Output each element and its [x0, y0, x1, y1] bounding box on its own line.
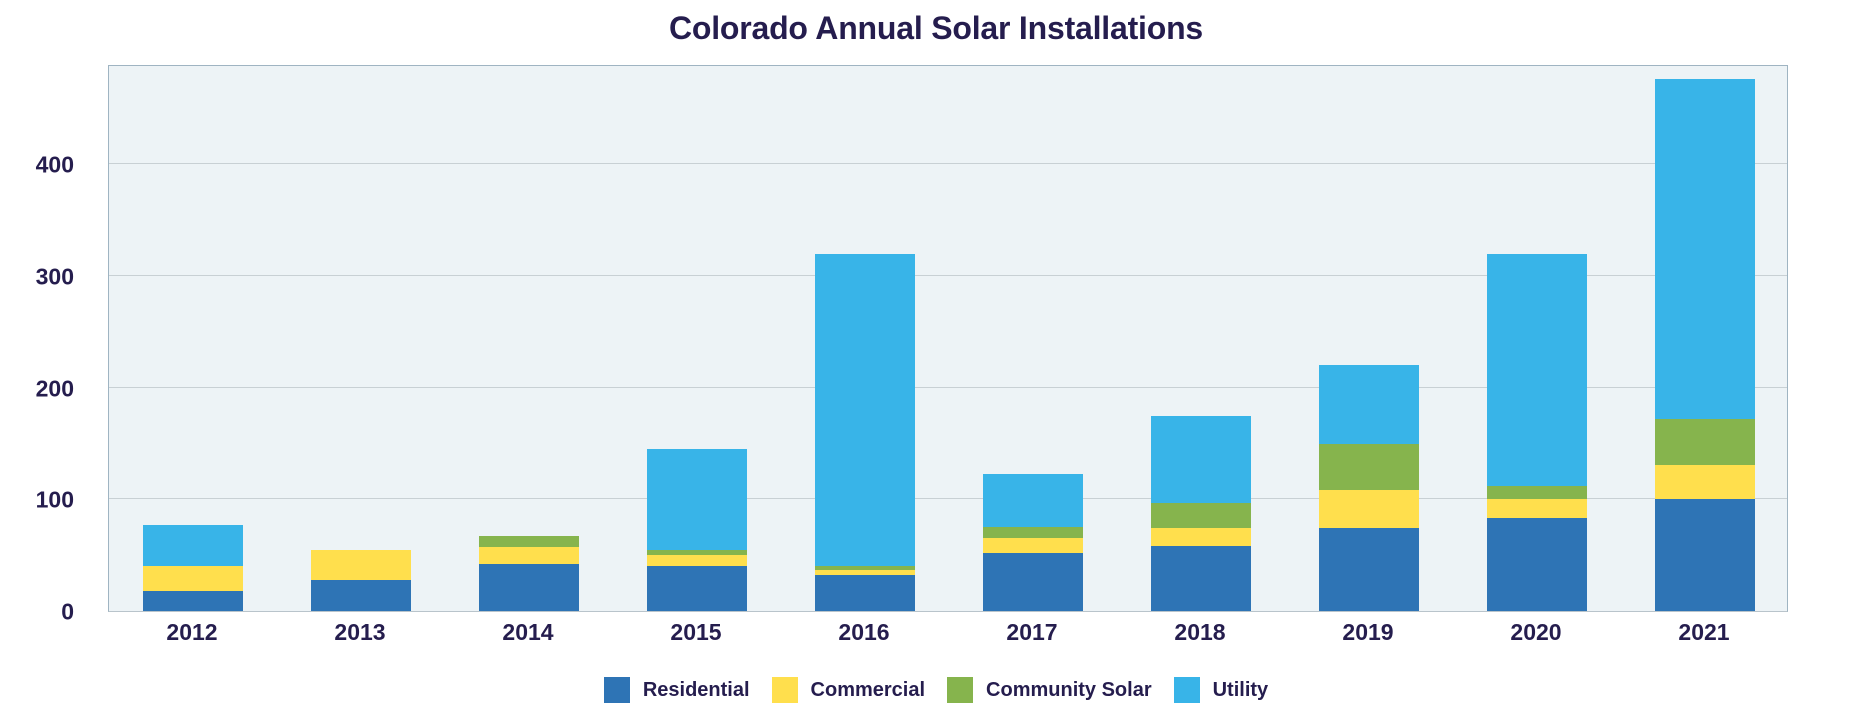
y-tick-label-300: 300	[8, 264, 88, 291]
x-tick-label-2019: 2019	[1342, 619, 1393, 646]
chart-title: Colorado Annual Solar Installations	[0, 10, 1872, 47]
bar-segment-2021-utility[interactable]	[1655, 79, 1756, 419]
x-tick-label-2013: 2013	[334, 619, 385, 646]
legend-label: Community Solar	[986, 679, 1152, 702]
chart-root: Colorado Annual Solar Installations Capa…	[0, 0, 1872, 720]
bar-group-2016[interactable]	[815, 66, 916, 611]
bar-segment-2017-residential[interactable]	[983, 553, 1084, 611]
bar-segment-2016-commercial[interactable]	[815, 570, 916, 576]
bar-segment-2020-residential[interactable]	[1487, 518, 1588, 611]
bar-segment-2015-utility[interactable]	[647, 449, 748, 549]
bar-segment-2020-community-solar[interactable]	[1487, 486, 1588, 499]
bar-group-2014[interactable]	[479, 66, 580, 611]
x-tick-label-2016: 2016	[838, 619, 889, 646]
plot-area	[108, 65, 1788, 612]
bar-segment-2015-residential[interactable]	[647, 566, 748, 611]
y-tick-label-0: 0	[8, 599, 88, 626]
bar-segment-2020-commercial[interactable]	[1487, 499, 1588, 518]
legend-item-residential[interactable]: Residential	[604, 677, 750, 703]
y-tick-label-100: 100	[8, 487, 88, 514]
bar-segment-2017-community-solar[interactable]	[983, 527, 1084, 538]
bar-segment-2021-commercial[interactable]	[1655, 465, 1756, 500]
bar-group-2017[interactable]	[983, 66, 1084, 611]
bar-group-2018[interactable]	[1151, 66, 1252, 611]
x-tick-label-2017: 2017	[1006, 619, 1057, 646]
legend-item-commercial[interactable]: Commercial	[772, 677, 926, 703]
bar-group-2019[interactable]	[1319, 66, 1420, 611]
x-tick-label-2014: 2014	[502, 619, 553, 646]
bar-segment-2021-community-solar[interactable]	[1655, 419, 1756, 465]
x-tick-label-2020: 2020	[1510, 619, 1561, 646]
bar-segment-2021-residential[interactable]	[1655, 499, 1756, 611]
x-tick-label-2015: 2015	[670, 619, 721, 646]
bar-segment-2013-residential[interactable]	[311, 580, 412, 611]
bar-segment-2016-community-solar[interactable]	[815, 566, 916, 569]
legend-swatch-icon-commercial	[772, 677, 798, 703]
bar-segment-2020-utility[interactable]	[1487, 254, 1588, 486]
y-tick-label-200: 200	[8, 375, 88, 402]
chart-legend: ResidentialCommercialCommunity SolarUtil…	[0, 677, 1872, 703]
bar-segment-2012-commercial[interactable]	[143, 566, 244, 591]
legend-swatch-icon-community-solar	[947, 677, 973, 703]
x-tick-label-2018: 2018	[1174, 619, 1225, 646]
bar-segment-2014-residential[interactable]	[479, 564, 580, 611]
bars-layer	[109, 66, 1787, 611]
bar-group-2015[interactable]	[647, 66, 748, 611]
bar-segment-2016-residential[interactable]	[815, 575, 916, 611]
x-tick-label-2021: 2021	[1678, 619, 1729, 646]
legend-item-community-solar[interactable]: Community Solar	[947, 677, 1152, 703]
y-tick-label-400: 400	[8, 152, 88, 179]
bar-segment-2016-utility[interactable]	[815, 254, 916, 567]
bar-segment-2014-commercial[interactable]	[479, 547, 580, 564]
legend-item-utility[interactable]: Utility	[1174, 677, 1269, 703]
bar-segment-2015-community-solar[interactable]	[647, 550, 748, 556]
legend-swatch-icon-utility	[1174, 677, 1200, 703]
x-tick-label-2012: 2012	[166, 619, 217, 646]
bar-group-2012[interactable]	[143, 66, 244, 611]
bar-segment-2017-utility[interactable]	[983, 474, 1084, 528]
bar-segment-2014-community-solar[interactable]	[479, 536, 580, 547]
bar-segment-2015-commercial[interactable]	[647, 555, 748, 566]
legend-label: Utility	[1213, 679, 1269, 702]
bar-segment-2012-residential[interactable]	[143, 591, 244, 611]
bar-segment-2018-community-solar[interactable]	[1151, 503, 1252, 529]
bar-segment-2018-utility[interactable]	[1151, 416, 1252, 503]
bar-group-2013[interactable]	[311, 66, 412, 611]
bar-segment-2012-utility[interactable]	[143, 525, 244, 566]
bar-segment-2018-residential[interactable]	[1151, 546, 1252, 611]
legend-label: Residential	[643, 679, 750, 702]
bar-segment-2019-residential[interactable]	[1319, 528, 1420, 611]
bar-group-2020[interactable]	[1487, 66, 1588, 611]
bar-segment-2019-utility[interactable]	[1319, 365, 1420, 443]
bar-segment-2019-community-solar[interactable]	[1319, 444, 1420, 491]
bar-segment-2013-commercial[interactable]	[311, 550, 412, 580]
bar-segment-2017-commercial[interactable]	[983, 538, 1084, 553]
legend-swatch-icon-residential	[604, 677, 630, 703]
bar-segment-2019-commercial[interactable]	[1319, 490, 1420, 528]
bar-group-2021[interactable]	[1655, 66, 1756, 611]
legend-label: Commercial	[811, 679, 926, 702]
bar-segment-2018-commercial[interactable]	[1151, 528, 1252, 546]
